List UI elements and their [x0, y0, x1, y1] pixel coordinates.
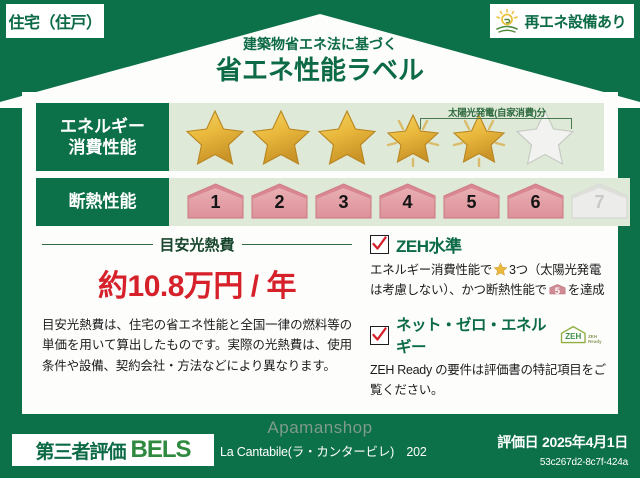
energy-performance-row: エネルギー 消費性能 太陽光発電(自家消費)分	[36, 103, 604, 171]
energy-cost-heading: 目安光熱費	[42, 234, 352, 255]
insulation-performance-row: 断熱性能 1	[36, 178, 604, 226]
bels-badge-jp: 第三者評価	[35, 437, 125, 464]
insulation-step-1-value: 1	[185, 192, 246, 213]
insulation-step-2-value: 2	[249, 192, 310, 213]
certification-checks: ZEH水準 エネルギー消費性能で3つ（太陽光発電は考慮しない）、かつ断熱性能で5…	[370, 232, 608, 400]
energy-cost-heading-text: 目安光熱費	[160, 234, 235, 255]
star-icon-filled-1	[183, 107, 247, 167]
insulation-step-6: 6	[505, 182, 566, 222]
inline-house-value: 5	[549, 284, 566, 299]
insulation-step-3-value: 3	[313, 192, 374, 213]
footer-bar: 第三者評価 BELS La Cantabile(ラ・カンタービレ) 202 評価…	[0, 420, 640, 478]
bels-badge-en: BELS	[131, 436, 191, 464]
insulation-rating-area: 1 2 3	[169, 178, 630, 226]
zeh-standard-block: ZEH水準 エネルギー消費性能で3つ（太陽光発電は考慮しない）、かつ断熱性能で5…	[370, 232, 608, 300]
insulation-step-5: 5	[441, 182, 502, 222]
heading-rule-right	[242, 244, 353, 245]
evaluation-id: 53c267d2-8c7f-424a	[540, 457, 628, 468]
insulation-step-7: 7	[569, 182, 630, 222]
zeh-standard-checkbox	[370, 235, 389, 254]
insulation-step-scale: 1 2 3	[169, 182, 630, 222]
zeh-house-icon: ZEH	[559, 323, 588, 347]
zeh-standard-row: ZEH水準	[370, 232, 608, 257]
inline-house-icon: 5	[549, 282, 566, 297]
insulation-step-5-value: 5	[441, 192, 502, 213]
renewable-badge: 再エネ設備あり	[490, 4, 634, 38]
solar-annotation-bracket	[420, 118, 572, 129]
insulation-step-6-value: 6	[505, 192, 566, 213]
zeh-standard-description: エネルギー消費性能で3つ（太陽光発電は考慮しない）、かつ断熱性能で5を達成	[370, 260, 608, 300]
inline-star-icon	[493, 262, 508, 276]
zeh-logo: ZEH ZEH Ready	[559, 323, 608, 347]
insulation-performance-label: 断熱性能	[36, 178, 169, 226]
net-zero-energy-title: ネット・ゼロ・エネルギー	[396, 313, 548, 357]
type-badge-label: 住宅（住戸）	[8, 9, 101, 33]
property-name: La Cantabile(ラ・カンタービレ) 202	[220, 441, 427, 460]
zeh-desc-part2: を達成	[568, 283, 605, 297]
title-main: 省エネ性能ラベル	[0, 54, 640, 87]
star-icon-filled-3	[315, 107, 379, 167]
check-icon	[372, 327, 387, 343]
energy-performance-label: エネルギー 消費性能	[36, 103, 169, 171]
insulation-step-4: 4	[377, 182, 438, 222]
label-title: 建築物省エネ法に基づく 省エネ性能ラベル	[0, 36, 640, 86]
zeh-standard-title: ZEH水準	[396, 232, 462, 257]
zeh-desc-part1: エネルギー消費性能で	[370, 263, 492, 277]
star-icon-filled-2	[249, 107, 313, 167]
insulation-step-2: 2	[249, 182, 310, 222]
evaluation-date: 評価日 2025年4月1日	[497, 432, 628, 452]
type-badge: 住宅（住戸）	[6, 4, 104, 38]
net-zero-energy-row: ネット・ゼロ・エネルギー ZEH ZEH Ready	[370, 313, 608, 357]
check-icon	[372, 236, 387, 252]
energy-label-root: 住宅（住戸） 再エネ設備あり 建築物省エネ法に基づく 省エネ性能ラベル エネルギ…	[0, 0, 640, 478]
bels-badge: 第三者評価 BELS	[12, 434, 214, 466]
energy-cost-value: 約10.8万円 / 年	[42, 261, 352, 305]
net-zero-energy-description: ZEH Ready の要件は評価書の特記項目をご覧ください。	[370, 360, 608, 400]
sun-icon	[494, 8, 520, 34]
insulation-step-7-value: 7	[569, 192, 630, 213]
energy-label-line1: エネルギー	[60, 116, 145, 137]
insulation-step-1: 1	[185, 182, 246, 222]
net-zero-energy-checkbox	[370, 326, 389, 345]
heading-rule-left	[42, 244, 153, 245]
energy-label-line2: 消費性能	[69, 137, 137, 158]
insulation-step-3: 3	[313, 182, 374, 222]
svg-text:ZEH: ZEH	[565, 332, 581, 341]
zeh-ready-label: ZEH Ready	[588, 335, 608, 345]
title-subtitle: 建築物省エネ法に基づく	[0, 36, 640, 53]
label-body: エネルギー 消費性能 太陽光発電(自家消費)分	[22, 92, 618, 414]
insulation-label-text: 断熱性能	[69, 191, 137, 212]
renewable-badge-label: 再エネ設備あり	[524, 11, 626, 32]
insulation-step-4-value: 4	[377, 192, 438, 213]
net-zero-energy-block: ネット・ゼロ・エネルギー ZEH ZEH Ready ZEH Ready の要件…	[370, 313, 608, 400]
energy-cost-block: 目安光熱費 約10.8万円 / 年 目安光熱費は、住宅の省エネ性能と全国一律の燃…	[42, 234, 352, 376]
energy-cost-disclaimer: 目安光熱費は、住宅の省エネ性能と全国一律の燃料等の単価を用いて算出したものです。…	[42, 315, 352, 376]
energy-rating-area: 太陽光発電(自家消費)分	[169, 103, 604, 171]
solar-annotation-label: 太陽光発電(自家消費)分	[417, 105, 577, 119]
